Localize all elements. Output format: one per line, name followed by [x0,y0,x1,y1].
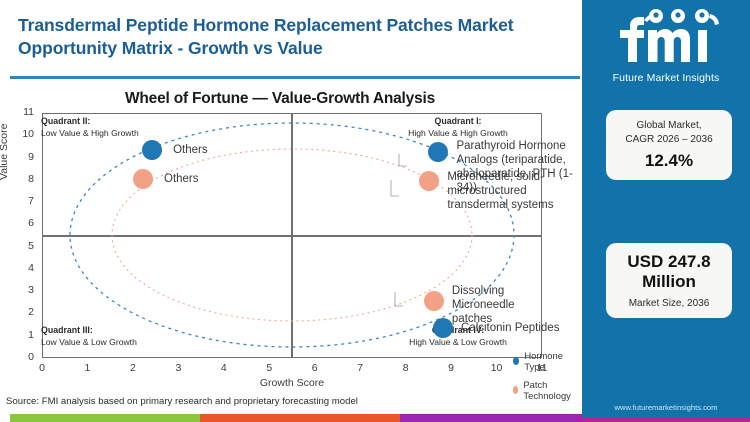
footer-bar-purple [400,414,582,422]
legend-label-hormone-type: Hormone Type [524,350,573,372]
legend-item-hormone-type[interactable]: Hormone Type [513,350,573,372]
legend-item-patch-technology[interactable]: Patch Technology [513,379,573,401]
x-tick-10: 10 [482,362,512,374]
point-label-patch-technology-0: Microneedle, solid-microstructured trans… [447,170,565,212]
x-tick-2: 2 [118,362,148,374]
quadrant-label-iii: Quadrant III:Low Value & Low Growth [41,324,181,349]
x-tick-3: 3 [163,362,193,374]
legend-label-patch-technology: Patch Technology [523,379,573,401]
plot-area: Quadrant I:High Value & High GrowthQuadr… [42,113,542,358]
bubble-patch-technology-2[interactable] [424,291,444,311]
x-axis-label: Growth Score [42,377,542,389]
x-tick-4: 4 [209,362,239,374]
bubble-hormone-type-0[interactable] [428,142,448,162]
chart-plot-wrapper: Value Score Growth Score 01234567891011 … [0,0,580,400]
market-size-card: USD 247.8 Million Market Size, 2036 [606,243,732,318]
point-label-patch-technology-2: Dissolving Microneedle patches [452,284,548,326]
legend-dot-hormone-type [513,357,519,365]
bubble-hormone-type-1[interactable] [142,140,162,160]
quadrant-label-ii: Quadrant II:Low Value & High Growth [41,115,181,140]
website-url[interactable]: www.futuremarketinsights.com [582,403,750,412]
footer-bar-orange [200,414,400,422]
bubble-patch-technology-1[interactable] [133,169,153,189]
quadrant-head-iii: Quadrant III: [41,324,181,336]
y-tick-6: 6 [8,217,34,229]
y-tick-5: 5 [8,240,34,252]
quadrant-head-ii: Quadrant II: [41,115,181,127]
bubble-hormone-type-2[interactable] [433,318,453,338]
market-size-value-line2: Million [612,272,726,292]
cagr-caption-line2: CAGR 2026 – 2036 [612,133,726,147]
quadrant-desc-ii: Low Value & High Growth [41,128,139,138]
x-tick-6: 6 [300,362,330,374]
screenshot-root: Transdermal Peptide Hormone Replacement … [0,0,750,422]
fmi-logo-icon [606,8,726,70]
main-panel: Transdermal Peptide Hormone Replacement … [0,0,580,422]
x-tick-1: 1 [72,362,102,374]
y-tick-1: 1 [8,329,34,341]
y-tick-4: 4 [8,262,34,274]
source-note: Source: FMI analysis based on primary re… [6,396,358,407]
x-tick-5: 5 [254,362,284,374]
quadrant-desc-i: High Value & High Growth [408,128,508,138]
x-tick-0: 0 [27,362,57,374]
fmi-logo-subtitle: Future Market Insights [582,72,750,84]
market-size-caption: Market Size, 2036 [612,298,726,309]
sidebar: Future Market Insights Global Market, CA… [582,0,750,422]
y-tick-3: 3 [8,284,34,296]
point-label-patch-technology-1: Others [164,172,224,186]
quadrant-head-i: Quadrant I: [399,115,517,127]
y-tick-11: 11 [8,106,34,118]
x-tick-9: 9 [436,362,466,374]
y-tick-8: 8 [8,173,34,185]
x-tick-7: 7 [345,362,375,374]
point-label-hormone-type-1: Others [173,143,233,157]
y-tick-10: 10 [8,128,34,140]
quadrant-desc-iv: High Value & Low Growth [409,337,507,347]
y-tick-9: 9 [8,151,34,163]
bubble-patch-technology-0[interactable] [419,171,439,191]
quadrant-label-i: Quadrant I:High Value & High Growth [399,115,517,140]
quadrant-desc-iii: Low Value & Low Growth [41,337,137,347]
footer-bar-green [10,414,200,422]
legend-dot-patch-technology [513,386,518,394]
y-tick-2: 2 [8,306,34,318]
cagr-card: Global Market, CAGR 2026 – 2036 12.4% [606,110,732,180]
chart-legend: Hormone Type Patch Technology [513,350,573,408]
cagr-value: 12.4% [612,151,726,171]
cagr-caption-line1: Global Market, [612,119,726,133]
fmi-logo: Future Market Insights [582,8,750,84]
market-size-value-line1: USD 247.8 [612,252,726,272]
y-tick-7: 7 [8,195,34,207]
x-tick-8: 8 [391,362,421,374]
